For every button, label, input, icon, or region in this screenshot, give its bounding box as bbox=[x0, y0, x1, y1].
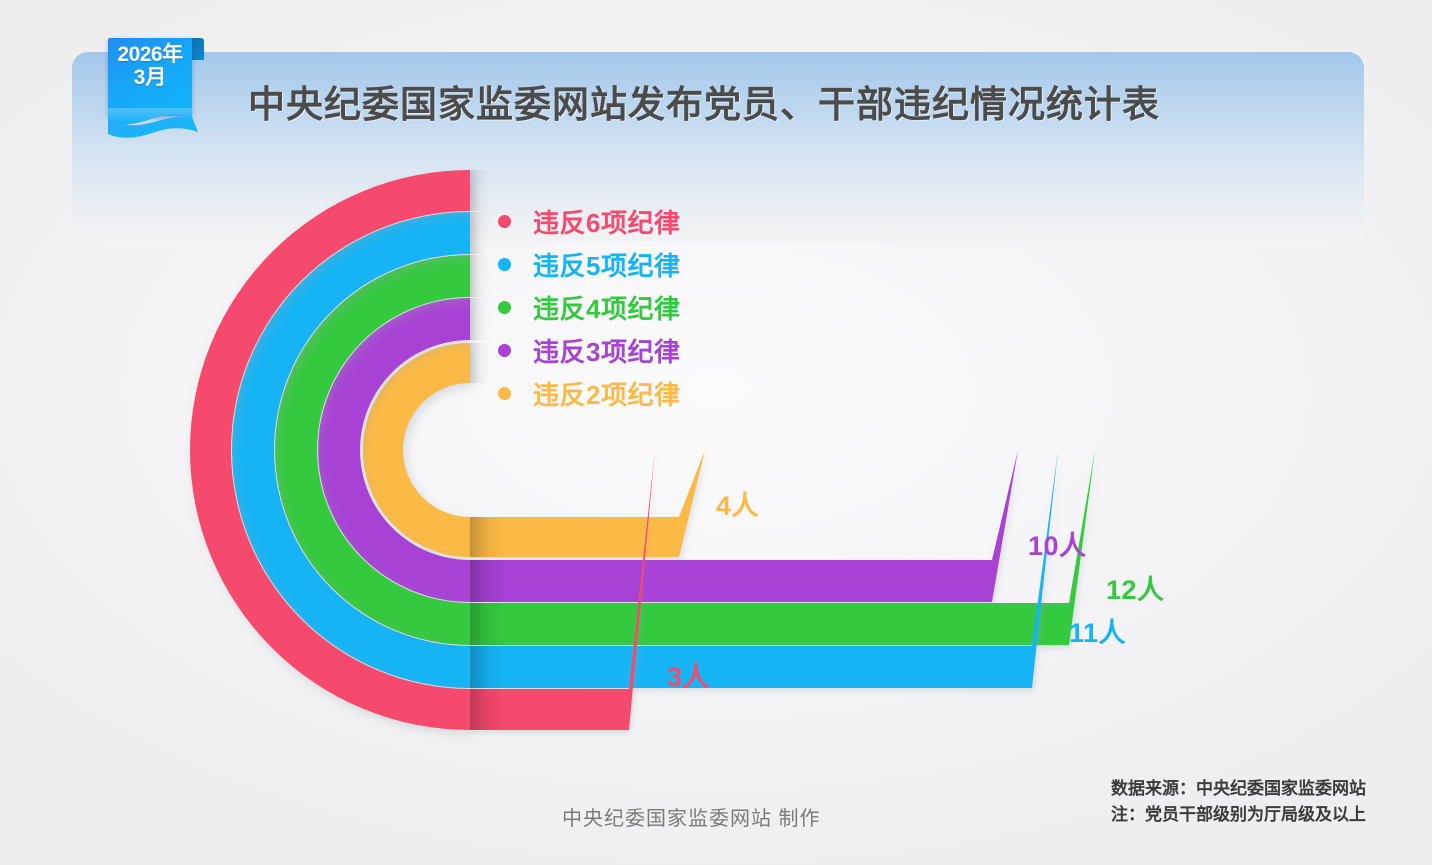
data-source-text: 数据来源：中央纪委国家监委网站 bbox=[1111, 776, 1366, 802]
bar-fold-shadow bbox=[470, 517, 504, 557]
legend-item-label: 违反3项纪律 bbox=[533, 332, 680, 369]
bar-fold-shadow bbox=[470, 689, 504, 730]
bar-value-label-2-disciplines: 4人 bbox=[716, 484, 759, 523]
legend-color-swatch-icon bbox=[498, 387, 511, 400]
legend-item-label: 违反6项纪律 bbox=[533, 203, 680, 240]
bar-fold-shadow-top bbox=[470, 255, 490, 297]
legend-item-label: 违反5项纪律 bbox=[533, 246, 680, 283]
legend-item-label: 违反4项纪律 bbox=[533, 289, 680, 326]
legend-color-swatch-icon bbox=[498, 258, 511, 271]
bar-fold-shadow bbox=[470, 646, 504, 688]
bar-fold-shadow bbox=[470, 603, 504, 645]
curved-bar-chart bbox=[0, 0, 1432, 865]
legend-item-1[interactable]: 违反5项纪律 bbox=[498, 243, 680, 286]
bar-value-label-4-disciplines: 12人 bbox=[1106, 568, 1165, 607]
source-note-block: 数据来源：中央纪委国家监委网站 注：党员干部级别为厅局级及以上 bbox=[1111, 776, 1366, 828]
bar-value-label-6-disciplines: 3人 bbox=[667, 655, 710, 694]
producer-credit: 中央纪委国家监委网站 制作 bbox=[562, 802, 821, 831]
footnote-text: 注：党员干部级别为厅局级及以上 bbox=[1111, 802, 1366, 828]
bar-fold-shadow-top bbox=[470, 212, 490, 254]
bar-fold-shadow-top bbox=[470, 298, 490, 340]
legend-item-3[interactable]: 违反3项纪律 bbox=[498, 329, 680, 372]
legend-color-swatch-icon bbox=[498, 344, 511, 357]
legend-item-2[interactable]: 违反4项纪律 bbox=[498, 286, 680, 329]
bar-fold-shadow-top bbox=[470, 170, 490, 211]
bar-straight-segment bbox=[470, 450, 705, 557]
legend: 违反6项纪律 违反5项纪律 违反4项纪律 违反3项纪律 违反2项纪律 bbox=[498, 200, 680, 415]
bar-value-label-3-disciplines: 10人 bbox=[1028, 524, 1087, 563]
legend-color-swatch-icon bbox=[498, 301, 511, 314]
legend-item-label: 违反2项纪律 bbox=[533, 375, 680, 412]
bar-fold-shadow bbox=[470, 560, 504, 602]
legend-color-swatch-icon bbox=[498, 215, 511, 228]
bar-fold-shadow-top bbox=[470, 343, 490, 383]
legend-item-4[interactable]: 违反2项纪律 bbox=[498, 372, 680, 415]
legend-item-0[interactable]: 违反6项纪律 bbox=[498, 200, 680, 243]
bar-value-label-5-disciplines: 11人 bbox=[1069, 611, 1126, 650]
infographic-canvas: 2026年 3月 中央纪委国家监委网站发布党员、干部违纪情况统计表 违反6项纪律 bbox=[0, 0, 1432, 865]
